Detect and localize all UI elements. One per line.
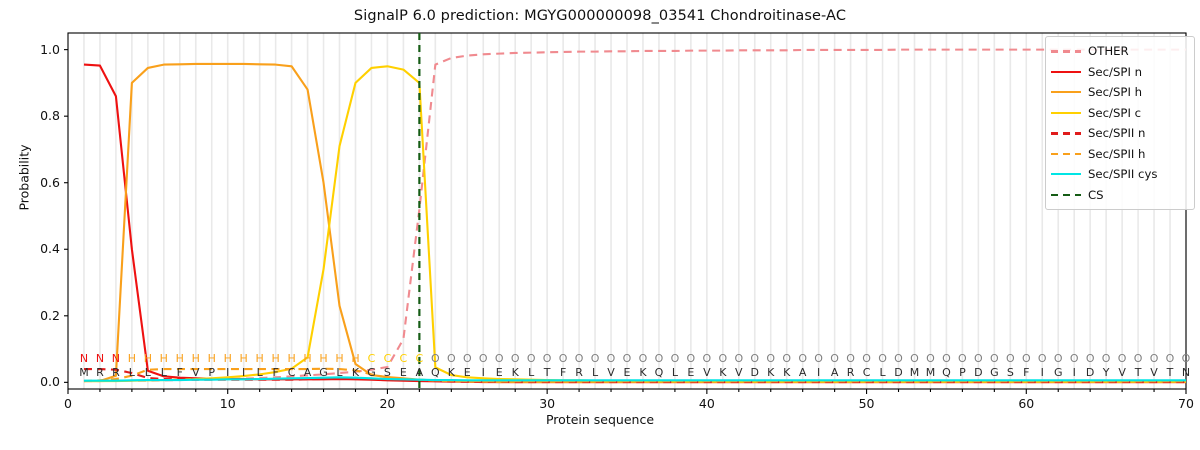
legend-swatch-icon — [1051, 107, 1081, 119]
sequence-residue: V — [699, 366, 715, 379]
sequence-residue: E — [395, 366, 411, 379]
sequence-region-label: O — [507, 352, 523, 365]
sequence-residue: M — [922, 366, 938, 379]
sequence-residue: F — [268, 366, 284, 379]
sequence-region-label: H — [172, 352, 188, 365]
sequence-region-label: O — [555, 352, 571, 365]
sequence-region-label: O — [427, 352, 443, 365]
legend-label: OTHER — [1088, 44, 1129, 58]
sequence-region-label: O — [891, 352, 907, 365]
x-tick-label: 70 — [1166, 396, 1200, 411]
sequence-region-label: C — [363, 352, 379, 365]
sequence-region-label: H — [268, 352, 284, 365]
sequence-region-label: O — [667, 352, 683, 365]
sequence-residue: R — [108, 366, 124, 379]
sequence-region-label: H — [300, 352, 316, 365]
legend-swatch-icon — [1051, 127, 1081, 139]
sequence-residue: L — [124, 366, 140, 379]
sequence-region-label: H — [204, 352, 220, 365]
sequence-residue: G — [1050, 366, 1066, 379]
sequence-region-label: N — [76, 352, 92, 365]
sequence-residue: R — [843, 366, 859, 379]
sequence-residue: K — [763, 366, 779, 379]
sequence-residue: L — [332, 366, 348, 379]
sequence-region-label: O — [459, 352, 475, 365]
sequence-region-label: O — [715, 352, 731, 365]
sequence-residue: Q — [427, 366, 443, 379]
y-tick-label: 1.0 — [40, 42, 60, 57]
sequence-residue: N — [1178, 366, 1194, 379]
sequence-region-label: O — [763, 352, 779, 365]
sequence-region-label: H — [284, 352, 300, 365]
sequence-region-label: O — [731, 352, 747, 365]
x-tick-label: 0 — [48, 396, 88, 411]
x-tick-label: 30 — [527, 396, 567, 411]
sequence-residue: G — [363, 366, 379, 379]
sequence-region-label: O — [843, 352, 859, 365]
sequence-region-label: H — [140, 352, 156, 365]
legend-item-cs[interactable]: CS — [1051, 185, 1189, 206]
sequence-region-label: O — [619, 352, 635, 365]
y-tick-label: 0.8 — [40, 108, 60, 123]
sequence-region-label: O — [922, 352, 938, 365]
x-tick-label: 20 — [367, 396, 407, 411]
sequence-residue: T — [1162, 366, 1178, 379]
sequence-region-label: O — [747, 352, 763, 365]
legend-label: Sec/SPI h — [1088, 85, 1142, 99]
sequence-residue: V — [603, 366, 619, 379]
legend-label: Sec/SPII cys — [1088, 167, 1157, 181]
sequence-region-label: O — [1178, 352, 1194, 365]
sequence-residue: T — [539, 366, 555, 379]
sequence-residue: P — [204, 366, 220, 379]
sequence-residue: F — [555, 366, 571, 379]
sequence-region-label: N — [108, 352, 124, 365]
sequence-region-label: O — [523, 352, 539, 365]
legend-item-sec-spi-c[interactable]: Sec/SPI c — [1051, 103, 1189, 124]
sequence-residue: G — [316, 366, 332, 379]
sequence-residue: L — [523, 366, 539, 379]
sequence-region-label: O — [1114, 352, 1130, 365]
sequence-residue: I — [236, 366, 252, 379]
legend-item-sec-spi-h[interactable]: Sec/SPI h — [1051, 82, 1189, 103]
x-tick-label: 10 — [208, 396, 248, 411]
sequence-residue: L — [252, 366, 268, 379]
sequence-region-label: O — [1066, 352, 1082, 365]
sequence-residue: C — [859, 366, 875, 379]
sequence-residue: I — [1066, 366, 1082, 379]
sequence-region-label: O — [1082, 352, 1098, 365]
legend: OTHERSec/SPI nSec/SPI hSec/SPI cSec/SPII… — [1045, 36, 1195, 210]
sequence-residue: A — [795, 366, 811, 379]
sequence-residue: V — [1146, 366, 1162, 379]
sequence-residue: K — [507, 366, 523, 379]
sequence-region-label: O — [1034, 352, 1050, 365]
y-tick-label: 0.6 — [40, 175, 60, 190]
x-tick-label: 60 — [1006, 396, 1046, 411]
sequence-residue: E — [459, 366, 475, 379]
legend-item-other[interactable]: OTHER — [1051, 41, 1189, 62]
legend-swatch-icon — [1051, 148, 1081, 160]
sequence-region-label: O — [970, 352, 986, 365]
sequence-region-label: C — [379, 352, 395, 365]
sequence-region-label: O — [1146, 352, 1162, 365]
legend-swatch-icon — [1051, 168, 1081, 180]
sequence-region-label: O — [587, 352, 603, 365]
sequence-region-label: O — [986, 352, 1002, 365]
sequence-residue: G — [986, 366, 1002, 379]
sequence-residue: Q — [651, 366, 667, 379]
sequence-residue: A — [300, 366, 316, 379]
sequence-region-label: O — [875, 352, 891, 365]
sequence-residue: D — [891, 366, 907, 379]
sequence-residue: I — [475, 366, 491, 379]
sequence-region-label: O — [954, 352, 970, 365]
sequence-region-label: O — [938, 352, 954, 365]
x-tick-label: 40 — [687, 396, 727, 411]
sequence-region-label: O — [683, 352, 699, 365]
sequence-region-label: O — [859, 352, 875, 365]
sequence-region-label: H — [316, 352, 332, 365]
sequence-residue: R — [571, 366, 587, 379]
sequence-residue: A — [411, 366, 427, 379]
sequence-residue: D — [1082, 366, 1098, 379]
legend-swatch-icon — [1051, 189, 1081, 201]
sequence-residue: L — [587, 366, 603, 379]
sequence-residue: E — [491, 366, 507, 379]
sequence-region-label: H — [348, 352, 364, 365]
sequence-region-label: O — [475, 352, 491, 365]
legend-swatch-icon — [1051, 66, 1081, 78]
sequence-region-label: O — [1050, 352, 1066, 365]
sequence-region-label: O — [811, 352, 827, 365]
x-tick-label: 50 — [847, 396, 887, 411]
y-tick-label: 0.4 — [40, 241, 60, 256]
sequence-residue: K — [779, 366, 795, 379]
sequence-residue: L — [875, 366, 891, 379]
legend-item-sec-spii-h[interactable]: Sec/SPII h — [1051, 144, 1189, 165]
sequence-region-label: O — [635, 352, 651, 365]
sequence-region-label: O — [1002, 352, 1018, 365]
sequence-region-label: O — [571, 352, 587, 365]
legend-item-sec-spii-n[interactable]: Sec/SPII n — [1051, 123, 1189, 144]
sequence-region-label: O — [779, 352, 795, 365]
sequence-region-label: O — [795, 352, 811, 365]
sequence-residue: E — [683, 366, 699, 379]
sequence-residue: D — [970, 366, 986, 379]
sequence-residue: A — [827, 366, 843, 379]
sequence-residue: K — [635, 366, 651, 379]
sequence-region-label: C — [395, 352, 411, 365]
legend-label: CS — [1088, 188, 1104, 202]
legend-label: Sec/SPII h — [1088, 147, 1145, 161]
sequence-region-label: O — [699, 352, 715, 365]
sequence-region-label: O — [443, 352, 459, 365]
y-tick-label: 0.0 — [40, 374, 60, 389]
sequence-region-label: H — [332, 352, 348, 365]
sequence-residue: F — [1018, 366, 1034, 379]
sequence-residue: K — [348, 366, 364, 379]
legend-label: Sec/SPI c — [1088, 106, 1141, 120]
sequence-region-label: H — [236, 352, 252, 365]
legend-swatch-icon — [1051, 86, 1081, 98]
sequence-residue: D — [747, 366, 763, 379]
sequence-residue: K — [443, 366, 459, 379]
sequence-residue: Q — [938, 366, 954, 379]
legend-label: Sec/SPII n — [1088, 126, 1145, 140]
sequence-residue: I — [1034, 366, 1050, 379]
sequence-region-label: N — [92, 352, 108, 365]
legend-item-sec-spii-cys[interactable]: Sec/SPII cys — [1051, 164, 1189, 185]
sequence-region-label: O — [651, 352, 667, 365]
sequence-residue: C — [284, 366, 300, 379]
legend-label: Sec/SPI n — [1088, 65, 1142, 79]
sequence-residue: S — [1002, 366, 1018, 379]
sequence-residue: E — [619, 366, 635, 379]
legend-item-sec-spi-n[interactable]: Sec/SPI n — [1051, 62, 1189, 83]
sequence-residue: V — [731, 366, 747, 379]
sequence-residue: L — [667, 366, 683, 379]
sequence-region-label: H — [188, 352, 204, 365]
sequence-region-label: O — [539, 352, 555, 365]
sequence-residue: F — [172, 366, 188, 379]
sequence-region-label: O — [907, 352, 923, 365]
y-tick-label: 0.2 — [40, 308, 60, 323]
sequence-residue: V — [1114, 366, 1130, 379]
sequence-residue: R — [92, 366, 108, 379]
sequence-region-label: O — [603, 352, 619, 365]
sequence-residue: S — [379, 366, 395, 379]
sequence-region-label: O — [491, 352, 507, 365]
sequence-region-label: H — [252, 352, 268, 365]
sequence-residue: M — [907, 366, 923, 379]
sequence-residue: V — [188, 366, 204, 379]
sequence-residue: L — [156, 366, 172, 379]
sequence-residue: I — [220, 366, 236, 379]
sequence-residue: P — [954, 366, 970, 379]
sequence-region-label: O — [1098, 352, 1114, 365]
sequence-region-label: H — [220, 352, 236, 365]
sequence-residue: K — [715, 366, 731, 379]
sequence-region-label: H — [124, 352, 140, 365]
sequence-region-label: O — [1130, 352, 1146, 365]
legend-swatch-icon — [1051, 45, 1081, 57]
sequence-residue: L — [140, 366, 156, 379]
sequence-region-label: O — [1018, 352, 1034, 365]
sequence-residue: M — [76, 366, 92, 379]
sequence-residue: Y — [1098, 366, 1114, 379]
sequence-region-label: C — [411, 352, 427, 365]
sequence-region-label: H — [156, 352, 172, 365]
plot-canvas — [0, 0, 1200, 450]
sequence-residue: T — [1130, 366, 1146, 379]
sequence-region-label: O — [827, 352, 843, 365]
signalp-prediction-figure: SignalP 6.0 prediction: MGYG000000098_03… — [0, 0, 1200, 450]
sequence-residue: I — [811, 366, 827, 379]
sequence-region-label: O — [1162, 352, 1178, 365]
